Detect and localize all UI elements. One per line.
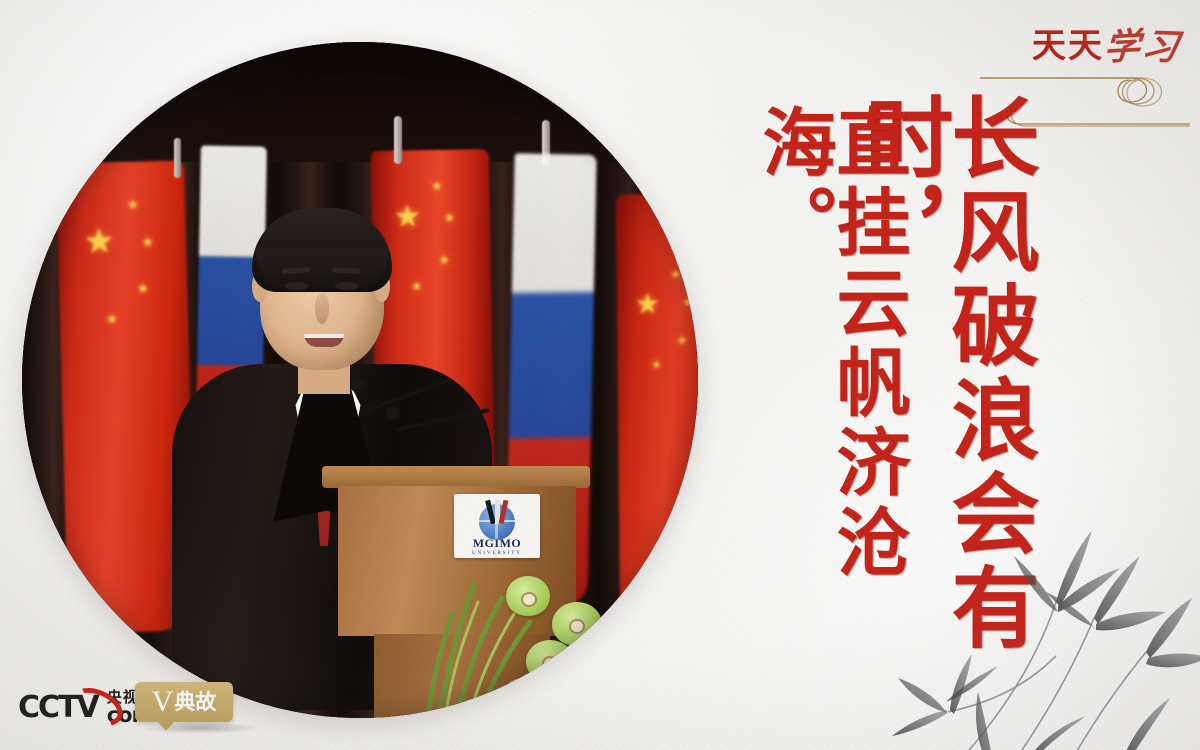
brand-logo: 天 天 学 习 [990,24,1178,70]
flag-pole-left [174,138,181,178]
speaker-photo: ★★★ ★★ ★★★ ★★ ★★★ ★★ [22,42,698,718]
bamboo-ink-painting-icon [888,506,1200,750]
brand-char-3: 学 [1103,28,1141,66]
microphone-head-right [386,406,400,420]
microphone-head-left [350,378,364,392]
podium-plaque: MGIMO UNIVERSITY [454,494,540,558]
flag-pole-center [394,116,402,164]
chinese-flag-right: ★★★ ★★ [616,193,698,624]
brand-char-4: 习 [1139,28,1181,65]
speaker-nose [315,294,329,324]
podium-top [322,466,590,488]
curtain-top-shadow [22,42,698,162]
brand-char-2: 天 [1068,30,1102,64]
poster-canvas: ★★★ ★★ ★★★ ★★ ★★★ ★★ [0,0,1200,750]
plaque-title: MGIMO UNIVERSITY [454,536,540,556]
badge-label: 典故 [174,692,216,713]
speaker-eye-right [335,282,359,290]
v-diangu-badge[interactable]: V 典故 [135,682,233,722]
book-emblem-icon [486,500,508,524]
badge-v-letter: V [152,687,174,717]
orchid-arrangement [418,558,628,718]
speaker-eye-left [285,282,309,290]
quote-column-sub: 直挂云帆济沧海。 [756,104,904,712]
plaque-subtitle: UNIVERSITY [454,551,540,556]
brand-char-1: 天 [1032,30,1066,64]
